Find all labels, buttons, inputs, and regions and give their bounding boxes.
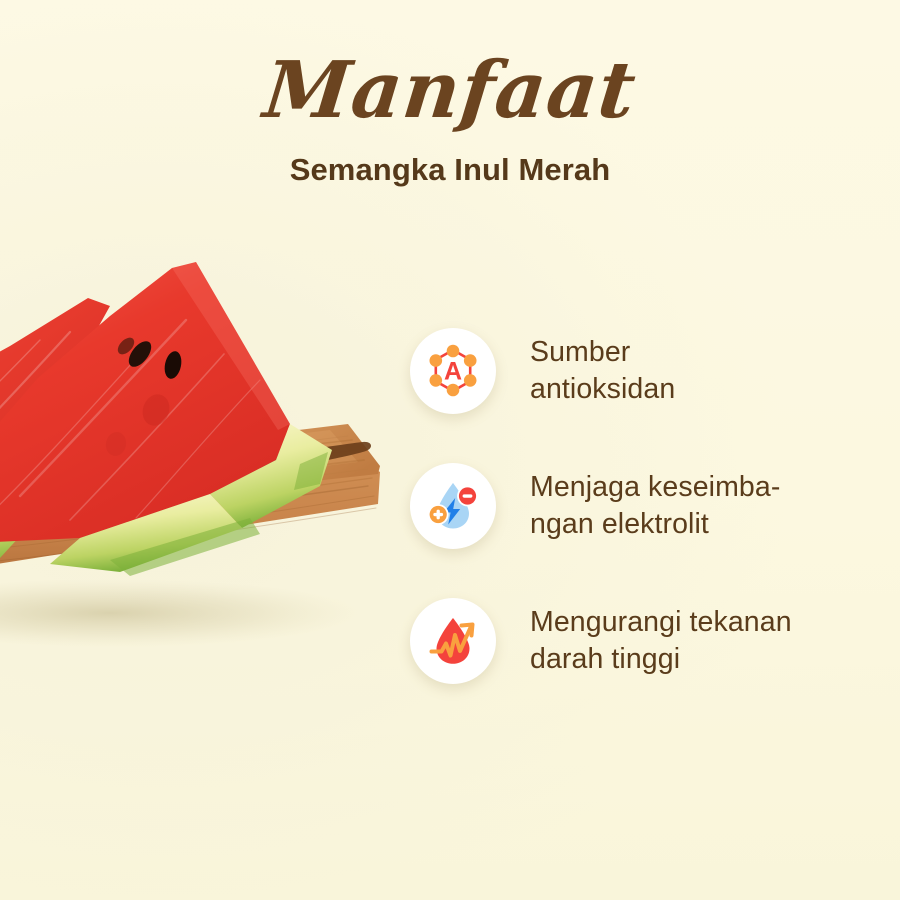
blood-pressure-drop-icon (424, 612, 482, 670)
page-title: Manfaat (0, 52, 900, 130)
watermelon-illustration (0, 228, 430, 688)
electrolyte-icon-badge (410, 463, 496, 549)
benefit-item-blood-pressure: Mengurangi tekanan darah tinggi (410, 598, 880, 684)
benefit-label-antioxidant: Sumber antioksidan (530, 334, 675, 409)
poster-canvas: Manfaat Semangka Inul Merah (0, 0, 900, 900)
benefit-item-antioxidant: A Sumber antioksidan (410, 328, 880, 414)
benefits-list: A Sumber antioksidan (410, 328, 880, 684)
svg-text:A: A (444, 357, 462, 385)
benefit-item-electrolyte: Menjaga keseimba- ngan elektrolit (410, 463, 880, 549)
antioxidant-icon-badge: A (410, 328, 496, 414)
blood-pressure-icon-badge (410, 598, 496, 684)
benefit-label-blood-pressure: Mengurangi tekanan darah tinggi (530, 604, 792, 679)
antioxidant-molecule-icon: A (425, 343, 481, 399)
page-subtitle: Semangka Inul Merah (0, 152, 900, 188)
electrolyte-water-drop-icon (424, 477, 482, 535)
benefit-label-electrolyte: Menjaga keseimba- ngan elektrolit (530, 469, 780, 544)
